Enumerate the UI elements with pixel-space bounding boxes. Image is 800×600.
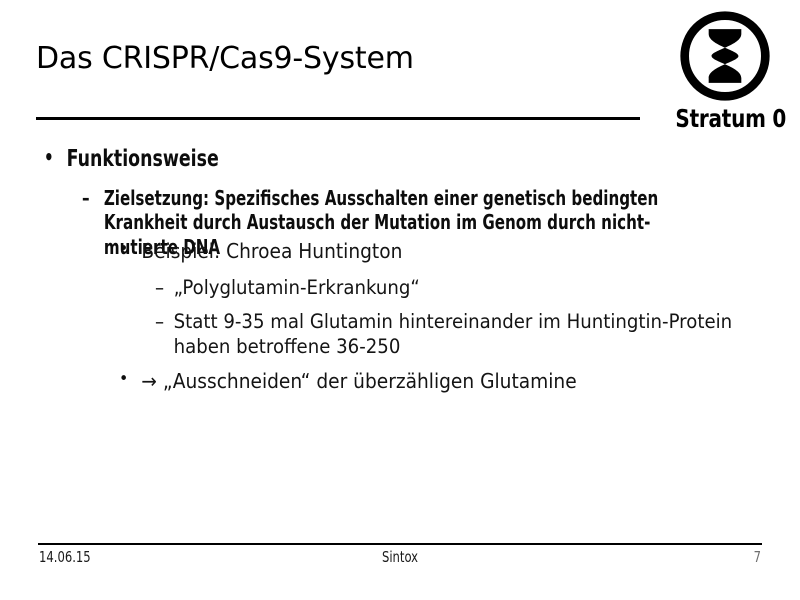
footer-divider (38, 543, 762, 545)
bullet-marker: – (155, 310, 174, 335)
bullet-level3-beispiel: • Beispiel: Chroea Huntington (119, 238, 528, 264)
logo: Stratum 0 (663, 8, 787, 140)
bullet-text: „Polyglutamin-Erkrankung“ (174, 276, 546, 301)
footer-title: Sintox (314, 548, 486, 566)
bullet-level4-statt: – Statt 9-35 mal Glutamin hintereinander… (155, 310, 741, 360)
bullet-text: Funktionsweise (67, 146, 347, 173)
hourglass-in-circle-icon (677, 8, 773, 104)
slide-canvas: Das CRISPR/Cas9-System Stratum 0 • Funkt… (0, 0, 800, 600)
bullet-text: Beispiel: Chroea Huntington (141, 238, 528, 264)
bullet-level3-ausschneiden: • → „Ausschneiden“ der überzähligen Glut… (119, 368, 640, 394)
bullet-text: Statt 9-35 mal Glutamin hintereinander i… (174, 310, 741, 360)
bullet-level4-polyglutamin: – „Polyglutamin-Erkrankung“ (155, 276, 546, 301)
bullet-marker: • (44, 146, 67, 170)
bullet-marker: – (82, 186, 104, 210)
title-divider (36, 117, 640, 120)
bullet-marker: – (155, 276, 174, 301)
logo-wordmark: Stratum 0 (675, 104, 774, 133)
bullet-level1-funktionsweise: • Funktionsweise (44, 146, 346, 173)
page-title: Das CRISPR/Cas9-System (36, 42, 646, 76)
bullet-marker: • (119, 238, 141, 260)
bullet-text: → „Ausschneiden“ der überzähligen Glutam… (141, 368, 639, 394)
bullet-marker: • (119, 368, 141, 390)
footer-page-number: 7 (709, 548, 761, 566)
footer-date: 14.06.15 (39, 548, 91, 566)
